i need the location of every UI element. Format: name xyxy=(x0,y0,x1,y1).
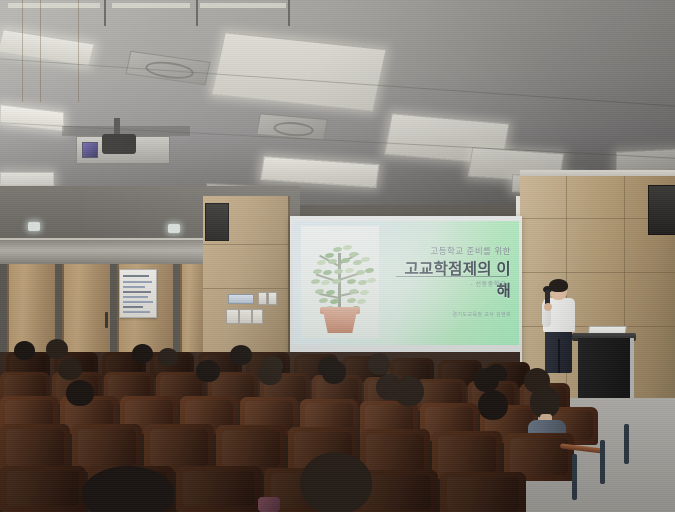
audience-head xyxy=(258,362,282,385)
poster-text-line xyxy=(123,301,153,303)
auditorium-chair[interactable] xyxy=(72,424,142,472)
auditorium-photo: 고등학교 준비를 위한 고교학점제의 이해 - 선동중학교 - 경기도교육청 교… xyxy=(0,0,675,512)
transom-divider xyxy=(196,0,198,26)
audience-head xyxy=(46,339,68,359)
door-frame xyxy=(110,264,117,366)
audience-head xyxy=(394,376,424,406)
poster-text-line xyxy=(123,281,152,283)
downlight-icon xyxy=(28,222,40,231)
light-switch-plate[interactable] xyxy=(258,292,267,305)
audience-head xyxy=(368,353,390,375)
poster-text-line xyxy=(123,306,143,308)
poster-text-line xyxy=(123,286,145,288)
presenter xyxy=(540,281,580,373)
audience-head xyxy=(474,368,499,392)
audience-head-foreground xyxy=(300,452,372,512)
audience-head xyxy=(58,358,82,380)
downlight-icon xyxy=(168,224,180,233)
handbag xyxy=(258,497,280,512)
light-switch-plate[interactable] xyxy=(268,292,277,305)
panel-seam xyxy=(203,288,288,289)
door-grain xyxy=(22,0,23,102)
presenter-hand xyxy=(544,303,552,311)
wall-speaker xyxy=(205,203,229,241)
notice-poster xyxy=(119,269,157,318)
transom-divider xyxy=(104,0,106,26)
door-handle[interactable] xyxy=(105,312,108,328)
light-switch-plate[interactable] xyxy=(252,309,263,324)
auditorium-chair[interactable] xyxy=(176,466,262,512)
audience-head xyxy=(196,360,220,382)
audience-head xyxy=(478,390,508,420)
chair-leg xyxy=(624,424,629,464)
poster-text-line xyxy=(123,275,149,277)
auditorium-chair[interactable] xyxy=(0,424,70,472)
door-grain xyxy=(40,0,41,102)
poster-text-line xyxy=(123,296,148,298)
presentation-slide: 고등학교 준비를 위한 고교학점제의 이해 - 선동중학교 - 경기도교육청 교… xyxy=(293,221,519,345)
lectern xyxy=(578,338,630,403)
auditorium-chair[interactable] xyxy=(0,466,86,512)
presenter-leg-gap xyxy=(558,339,560,373)
door-grain xyxy=(78,0,79,102)
transom-light-strip xyxy=(112,3,190,8)
wall-control-display[interactable] xyxy=(228,294,254,304)
chair-leg xyxy=(600,440,605,484)
light-switch-plate[interactable] xyxy=(226,309,239,324)
light-switch-plate[interactable] xyxy=(239,309,252,324)
audience-head xyxy=(14,341,35,360)
auditorium-chair[interactable] xyxy=(440,472,526,512)
chair-leg xyxy=(572,454,577,500)
panel-seam xyxy=(520,272,675,273)
slide-glare xyxy=(293,221,519,345)
poster-text-line xyxy=(123,311,150,313)
wall-speaker xyxy=(648,185,675,235)
transom-light-strip xyxy=(200,3,286,8)
audience-head xyxy=(132,344,153,363)
poster-text-line xyxy=(123,291,151,293)
audience-head xyxy=(66,380,94,406)
door-frame xyxy=(0,264,7,366)
panel-seam xyxy=(203,244,288,245)
audience-head xyxy=(230,345,252,365)
transom-divider xyxy=(288,0,290,26)
audience-head xyxy=(158,348,178,366)
audience-head xyxy=(322,360,346,384)
auditorium-chair[interactable] xyxy=(144,424,214,472)
